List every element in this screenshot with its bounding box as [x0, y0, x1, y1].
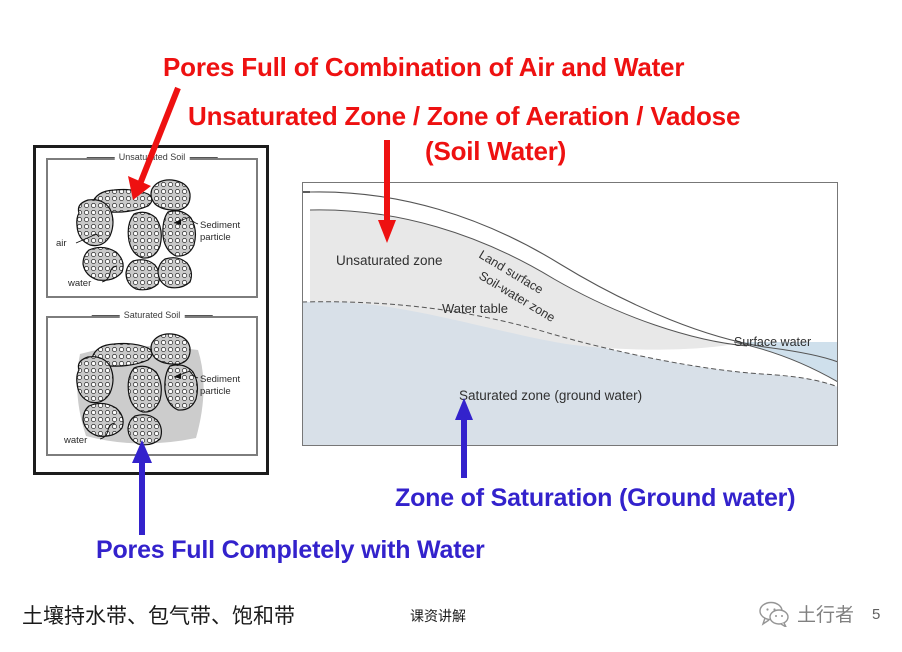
- label-sediment: Sediment: [200, 220, 240, 231]
- page-number: 5: [872, 606, 880, 623]
- panel-saturated-soil: Saturated Soil: [46, 316, 258, 456]
- label-particle: particle: [200, 386, 231, 397]
- watermark: 土行者: [758, 600, 854, 627]
- headline-pores-full-air-water: Pores Full of Combination of Air and Wat…: [163, 52, 684, 83]
- label-saturated-zone: Saturated zone (ground water): [459, 388, 642, 403]
- panel-unsaturated-soil: Unsaturated Soil: [46, 158, 258, 298]
- headline-soil-water: (Soil Water): [425, 136, 566, 167]
- label-sediment: Sediment: [200, 374, 240, 385]
- saturated-soil-illustration: water Sediment particle: [48, 318, 256, 454]
- footer-subtitle-chinese: 课资讲解: [410, 606, 466, 626]
- caption-pores-full-water: Pores Full Completely with Water: [96, 536, 485, 565]
- headline-unsaturated-zone: Unsaturated Zone / Zone of Aeration / Va…: [188, 101, 740, 132]
- caption-zone-of-saturation: Zone of Saturation (Ground water): [395, 484, 795, 513]
- wechat-bubbles-icon: [758, 601, 792, 627]
- label-water: water: [63, 435, 87, 446]
- label-unsaturated-zone: Unsaturated zone: [336, 253, 443, 268]
- label-water-table: Water table: [442, 301, 508, 316]
- slide-canvas: Pores Full of Combination of Air and Wat…: [0, 0, 902, 652]
- groundwater-cross-section-diagram: Unsaturated zone Land surface Soil-water…: [302, 182, 838, 447]
- footer-title-chinese: 土壤持水带、包气带、饱和带: [22, 600, 295, 630]
- watermark-label: 土行者: [797, 600, 854, 627]
- unsaturated-soil-illustration: air water Sediment particle: [48, 160, 256, 296]
- label-surface-water: Surface water: [734, 335, 811, 349]
- label-particle: particle: [200, 232, 231, 243]
- soil-particle-panel-group: Unsaturated Soil: [33, 145, 269, 475]
- label-water: water: [67, 278, 91, 289]
- label-air: air: [56, 238, 67, 249]
